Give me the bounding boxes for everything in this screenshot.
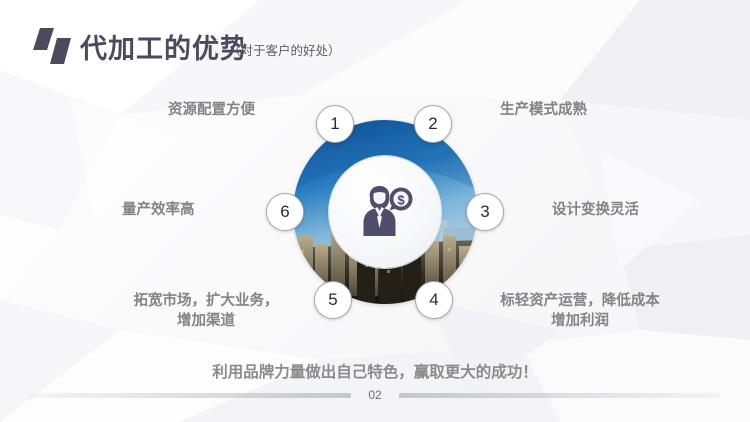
- page-subtitle: （对于客户的好处）: [228, 40, 341, 59]
- central-donut-graphic: $: [293, 120, 477, 304]
- slide-caption: 利用品牌力量做出自己特色，赢取更大的成功！: [0, 360, 750, 382]
- slide-header: 代加工的优势 （对于客户的好处）: [0, 0, 750, 78]
- node-1[interactable]: 1: [316, 105, 354, 143]
- footer-rule-right: [399, 393, 720, 398]
- double-parallelogram-logo-icon: [30, 26, 76, 66]
- slide-canvas: 代加工的优势 （对于客户的好处）: [0, 0, 750, 422]
- svg-text:$: $: [397, 192, 405, 207]
- advantage-label-3: 设计变换灵活: [552, 200, 639, 220]
- node-3[interactable]: 3: [466, 193, 504, 231]
- advantage-label-4-line2: 增加利润: [484, 311, 676, 331]
- page-number: 02: [351, 388, 399, 402]
- advantage-label-5: 拓宽市场，扩大业务， 增加渠道: [118, 291, 294, 331]
- page-title: 代加工的优势: [80, 27, 248, 66]
- center-icon-circle: $: [329, 156, 441, 268]
- advantage-label-4: 标轻资产运营，降低成本 增加利润: [484, 291, 676, 331]
- node-6[interactable]: 6: [266, 193, 304, 231]
- advantage-label-1: 资源配置方便: [168, 100, 255, 120]
- businessman-with-dollar-coin-icon: $: [356, 186, 414, 238]
- advantage-label-5-line2: 增加渠道: [118, 311, 294, 331]
- advantage-label-6: 量产效率高: [122, 200, 195, 220]
- node-5[interactable]: 5: [314, 281, 352, 319]
- advantage-label-5-line1: 拓宽市场，扩大业务，: [118, 291, 294, 311]
- advantage-label-2: 生产模式成熟: [500, 100, 587, 120]
- footer-rule-left: [30, 393, 351, 398]
- advantage-label-4-line1: 标轻资产运营，降低成本: [484, 291, 676, 311]
- slide-footer: 02: [0, 388, 750, 402]
- node-4[interactable]: 4: [415, 281, 453, 319]
- node-2[interactable]: 2: [414, 105, 452, 143]
